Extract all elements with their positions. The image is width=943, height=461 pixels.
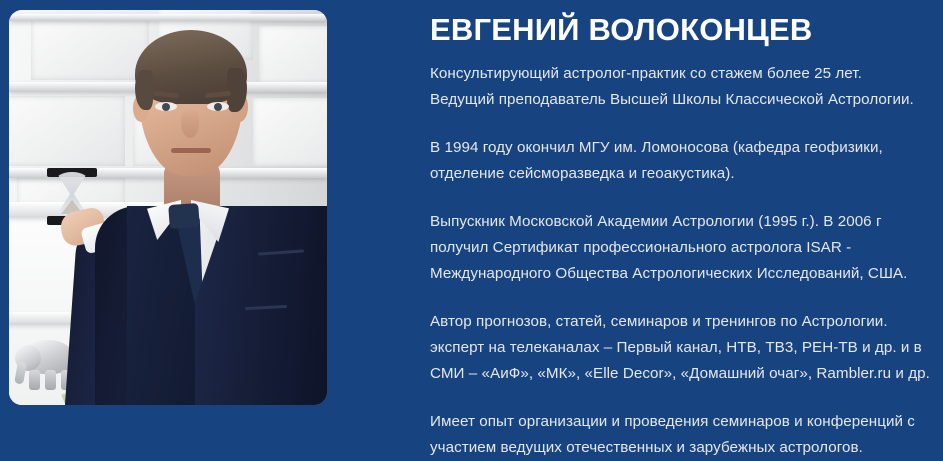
profile-photo: [9, 10, 327, 405]
pupil-right: [214, 103, 222, 111]
eye-left: [155, 102, 177, 111]
profile-photo-frame: [9, 10, 327, 405]
eye-right: [207, 102, 229, 111]
bio-paragraph: Имеет опыт организации и проведения семи…: [430, 409, 930, 461]
pupil-left: [162, 103, 170, 111]
bio-paragraph: В 1994 году окончил МГУ им. Ломоносова (…: [430, 135, 930, 187]
bio-paragraph: Автор прогнозов, статей, семинаров и тре…: [430, 309, 930, 387]
tie-knot: [168, 203, 200, 229]
profile-page: ЕВГЕНИЙ ВОЛОКОНЦЕВ Консультирующий астро…: [0, 0, 943, 415]
bio-paragraph: Выпускник Московской Академии Астрологии…: [430, 209, 930, 287]
mouth: [171, 148, 211, 153]
hair-side-left: [135, 70, 153, 110]
nose: [181, 108, 199, 138]
page-title: ЕВГЕНИЙ ВОЛОКОНЦЕВ: [430, 0, 930, 49]
biography: Консультирующий астролог-практик со стаж…: [430, 61, 930, 461]
bio-paragraph: Консультирующий астролог-практик со стаж…: [430, 61, 930, 113]
person-portrait: [9, 10, 327, 405]
profile-content: ЕВГЕНИЙ ВОЛОКОНЦЕВ Консультирующий астро…: [430, 0, 930, 415]
